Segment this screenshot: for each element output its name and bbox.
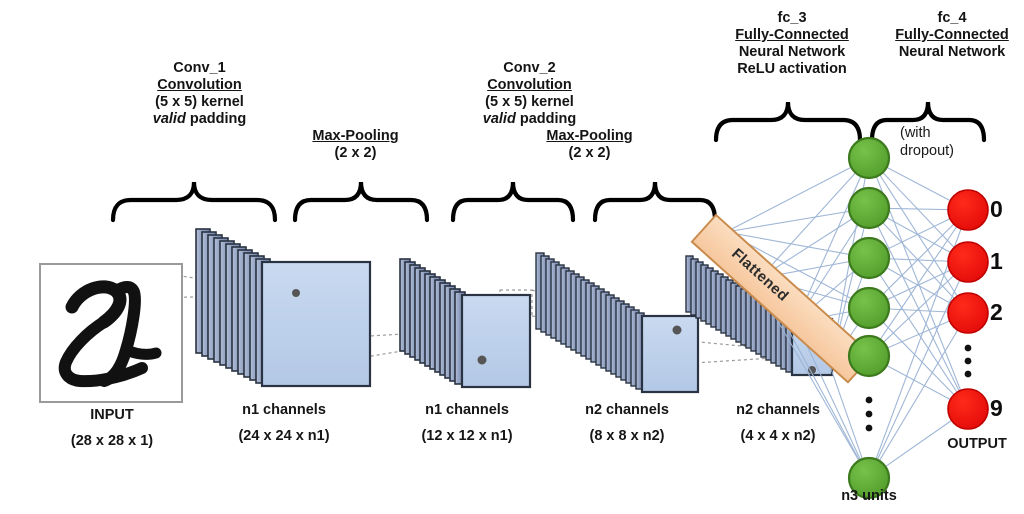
input-image-box [40, 264, 182, 402]
tensor-caption-pool1: n1 channels (12 x 12 x n1) [388, 401, 546, 446]
tensor-caption-conv2: n2 channels (8 x 8 x n2) [553, 401, 701, 446]
tensor-caption-name: INPUT [41, 406, 183, 425]
hidden-neuron [849, 138, 889, 178]
output-label-text: 1 [990, 248, 1003, 274]
hidden-layer-caption-text: n3 units [841, 488, 897, 504]
dropout-note-line: dropout) [900, 142, 1010, 160]
tensor-caption-shape: (4 x 4 x n2) [708, 427, 848, 446]
output-label-2: 2 [990, 299, 1003, 326]
tensor-caption-name: n2 channels [708, 401, 848, 420]
hidden-layer-ellipsis-icon [866, 397, 873, 432]
hidden-neuron [849, 288, 889, 328]
output-neuron [948, 242, 988, 282]
tensor-caption-shape: (24 x 24 x n1) [196, 427, 372, 446]
tensor-caption-pool2: n2 channels (4 x 4 x n2) [708, 401, 848, 446]
tensor-caption-input: INPUT (28 x 28 x 1) [41, 406, 183, 451]
output-label-1: 1 [990, 248, 1003, 275]
hidden-layer-caption: n3 units [819, 487, 919, 506]
output-layer-caption-text: OUTPUT [947, 436, 1007, 452]
hidden-neuron [849, 238, 889, 278]
tensor-caption-shape: (8 x 8 x n2) [553, 427, 701, 446]
brace-pool-1 [295, 182, 427, 220]
output-layer-neurons [948, 190, 988, 429]
brace-conv-1 [113, 182, 275, 220]
cnn-architecture-diagram: Conv_1 Convolution (5 x 5) kernel valid … [0, 0, 1024, 514]
tensor-caption-shape: (28 x 28 x 1) [41, 432, 183, 451]
dropout-note: (with dropout) [900, 124, 1010, 160]
tensor-caption-conv1: n1 channels (24 x 24 x n1) [196, 401, 372, 446]
tensor-block-conv2 [536, 253, 698, 392]
tensor-caption-name: n1 channels [196, 401, 372, 420]
brace-conv-2 [453, 182, 573, 220]
output-layer-caption: OUTPUT [930, 435, 1024, 454]
brace-pool-2 [595, 182, 715, 220]
output-label-0: 0 [990, 196, 1003, 223]
output-neuron [948, 389, 988, 429]
output-neuron [948, 190, 988, 230]
tensor-block-conv1 [196, 229, 370, 386]
output-label-text: 2 [990, 299, 1003, 325]
output-layer-ellipsis-icon [965, 345, 972, 378]
output-label-9: 9 [990, 395, 1003, 422]
output-label-text: 9 [990, 395, 1003, 421]
hidden-neuron [849, 188, 889, 228]
dropout-note-line: (with [900, 124, 1010, 142]
output-neuron [948, 293, 988, 333]
output-label-text: 0 [990, 196, 1003, 222]
tensor-caption-name: n1 channels [388, 401, 546, 420]
tensor-caption-shape: (12 x 12 x n1) [388, 427, 546, 446]
tensor-block-pool1 [400, 259, 530, 387]
tensor-caption-name: n2 channels [553, 401, 701, 420]
brace-fc-3 [716, 102, 860, 140]
hidden-neuron [849, 336, 889, 376]
